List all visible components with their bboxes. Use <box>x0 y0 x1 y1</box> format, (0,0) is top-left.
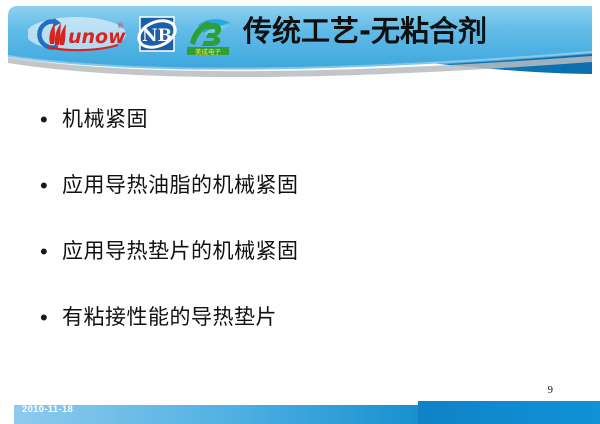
bullet-marker-icon: • <box>40 104 62 135</box>
page-number: 9 <box>548 384 554 396</box>
footer-date: 2010-11-18 <box>22 404 73 415</box>
list-item-label: 机械紧固 <box>62 104 148 134</box>
list-item: • 机械紧固 <box>40 104 560 170</box>
list-item-label: 应用导热垫片的机械紧固 <box>62 236 299 266</box>
slide-header: unow ® NB <box>0 0 600 90</box>
nb-logo: NB <box>137 14 177 54</box>
sunow-logo: unow ® <box>28 14 130 54</box>
sunow-trademark-icon: ® <box>117 22 124 30</box>
list-item: • 应用导热垫片的机械紧固 <box>40 236 560 302</box>
slide-canvas: unow ® NB <box>0 0 600 424</box>
jiazheng-electronics-logo: 美成电子 <box>184 13 232 55</box>
list-item-label: 应用导热油脂的机械紧固 <box>62 170 299 200</box>
bullet-marker-icon: • <box>40 302 62 333</box>
bullet-list: • 机械紧固 • 应用导热油脂的机械紧固 • 应用导热垫片的机械紧固 • 有粘接… <box>40 104 560 368</box>
page-title: 传统工艺-无粘合剂 <box>243 14 487 48</box>
list-item-label: 有粘接性能的导热垫片 <box>62 302 277 332</box>
footer-bar-shape <box>0 398 600 424</box>
bullet-marker-icon: • <box>40 236 62 267</box>
jz-caption: 美成电子 <box>195 47 222 55</box>
bullet-marker-icon: • <box>40 170 62 201</box>
logo-group: unow ® NB <box>28 11 232 57</box>
slide-footer: 2010-11-18 <box>0 398 600 424</box>
list-item: • 有粘接性能的导热垫片 <box>40 302 560 368</box>
list-item: • 应用导热油脂的机械紧固 <box>40 170 560 236</box>
nb-wordmark: NB <box>142 26 172 46</box>
